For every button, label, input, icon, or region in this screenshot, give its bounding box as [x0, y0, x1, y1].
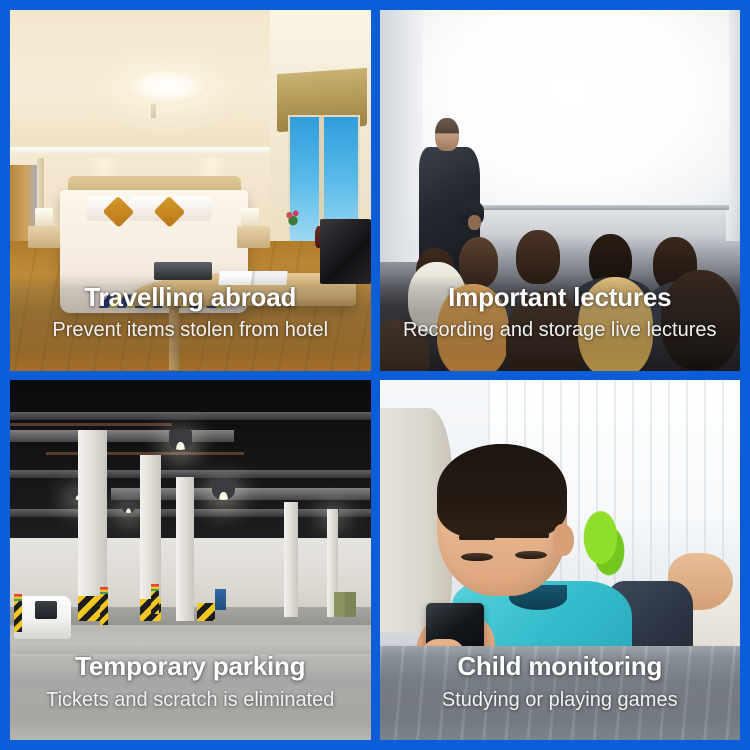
- child-eyebrow: [513, 533, 549, 539]
- ceiling-fixture-stem: [151, 104, 156, 118]
- caption-title: Temporary parking: [75, 650, 305, 683]
- green-plant: [578, 502, 628, 581]
- bedside-lamp: [241, 208, 259, 226]
- caption-title: Child monitoring: [457, 650, 662, 683]
- hazard-bollard: [14, 599, 22, 631]
- caption-important-lectures: Important lectures Recording and storage…: [380, 275, 741, 371]
- blue-cabinet: [215, 589, 226, 611]
- ceiling-duct: [10, 430, 234, 442]
- panel-temporary-parking[interactable]: Temporary parking Tickets and scratch is…: [10, 380, 371, 741]
- column-hazard-base: [197, 603, 215, 621]
- caption-subtitle: Recording and storage live lectures: [403, 317, 717, 344]
- panel-travelling-abroad[interactable]: Travelling abroad Prevent items stolen f…: [10, 10, 371, 371]
- garage-column: [176, 477, 194, 621]
- caption-subtitle: Tickets and scratch is eliminated: [46, 687, 334, 714]
- van-window: [35, 601, 57, 619]
- ceiling-beam: [10, 412, 371, 420]
- bollard-reflector: [14, 594, 22, 601]
- caption-temporary-parking: Temporary parking Tickets and scratch is…: [10, 644, 371, 740]
- ceiling-lamp: [169, 430, 192, 450]
- scenario-collage: Travelling abroad Prevent items stolen f…: [0, 0, 750, 750]
- child-hair: [437, 444, 567, 538]
- panel-important-lectures[interactable]: Important lectures Recording and storage…: [380, 10, 741, 371]
- speaker-hand: [468, 215, 481, 229]
- ceiling-pipe: [10, 423, 172, 427]
- nightstand: [237, 226, 269, 248]
- child-ear: [553, 524, 575, 556]
- bollard-reflector: [151, 584, 159, 591]
- caption-title: Important lectures: [448, 281, 671, 314]
- caption-title: Travelling abroad: [84, 281, 296, 314]
- service-door: [334, 592, 356, 617]
- caption-subtitle: Prevent items stolen from hotel: [52, 317, 328, 344]
- caption-subtitle: Studying or playing games: [442, 687, 678, 714]
- panel-child-monitoring[interactable]: Child monitoring Studying or playing gam…: [380, 380, 741, 741]
- flower-vase: [284, 208, 302, 226]
- ceiling-light: [125, 71, 208, 103]
- hazard-bollard: [100, 592, 108, 624]
- child-eyebrow: [459, 535, 495, 541]
- bollard-reflector: [100, 587, 108, 594]
- bedside-lamp: [35, 208, 53, 226]
- caption-travelling-abroad: Travelling abroad Prevent items stolen f…: [10, 275, 371, 371]
- nightstand: [28, 226, 60, 248]
- hazard-bollard: [151, 589, 159, 614]
- child-eye: [461, 553, 493, 562]
- caption-child-monitoring: Child monitoring Studying or playing gam…: [380, 644, 741, 740]
- speaker-head: [435, 118, 458, 150]
- garage-column: [284, 502, 298, 617]
- ceiling-lamp: [122, 502, 135, 513]
